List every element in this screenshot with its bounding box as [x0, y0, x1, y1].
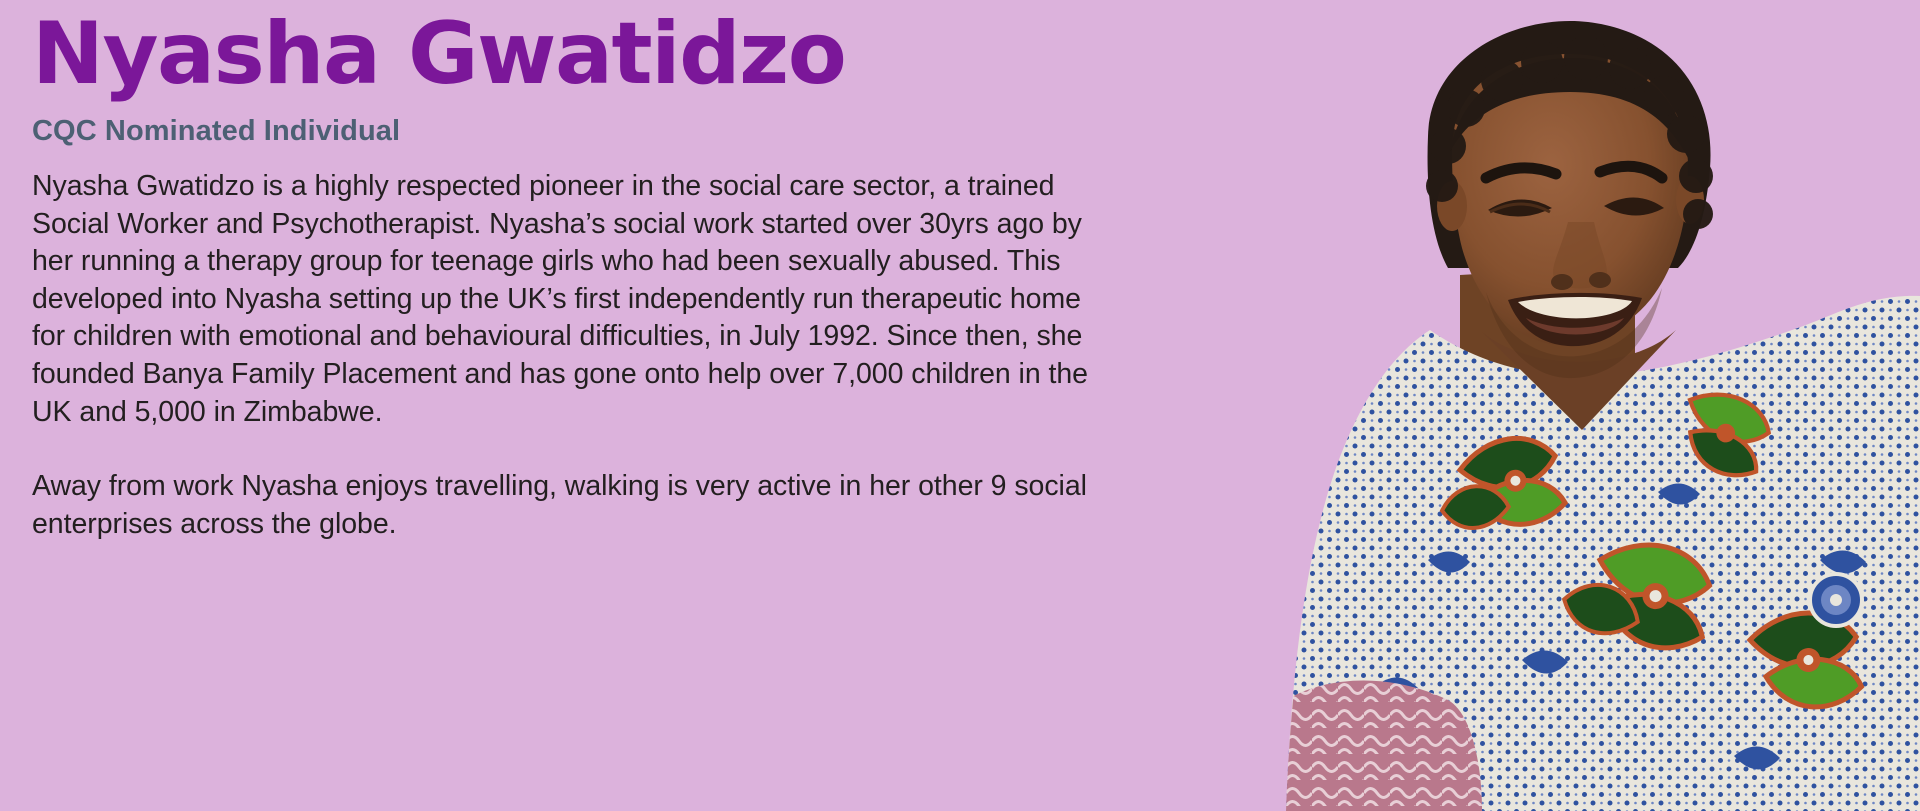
bio-paragraph: Nyasha Gwatidzo is a highly respected pi…	[32, 168, 1117, 431]
paragraph-spacer	[32, 431, 1392, 468]
profile-text-column: Nyasha Gwatidzo CQC Nominated Individual…	[32, 6, 1392, 543]
bio-paragraph: Away from work Nyasha enjoys travelling,…	[32, 468, 1117, 543]
person-role-subtitle: CQC Nominated Individual	[32, 114, 1392, 149]
page-title: Nyasha Gwatidzo	[32, 6, 1392, 102]
profile-card: Nyasha Gwatidzo CQC Nominated Individual…	[0, 0, 1920, 811]
